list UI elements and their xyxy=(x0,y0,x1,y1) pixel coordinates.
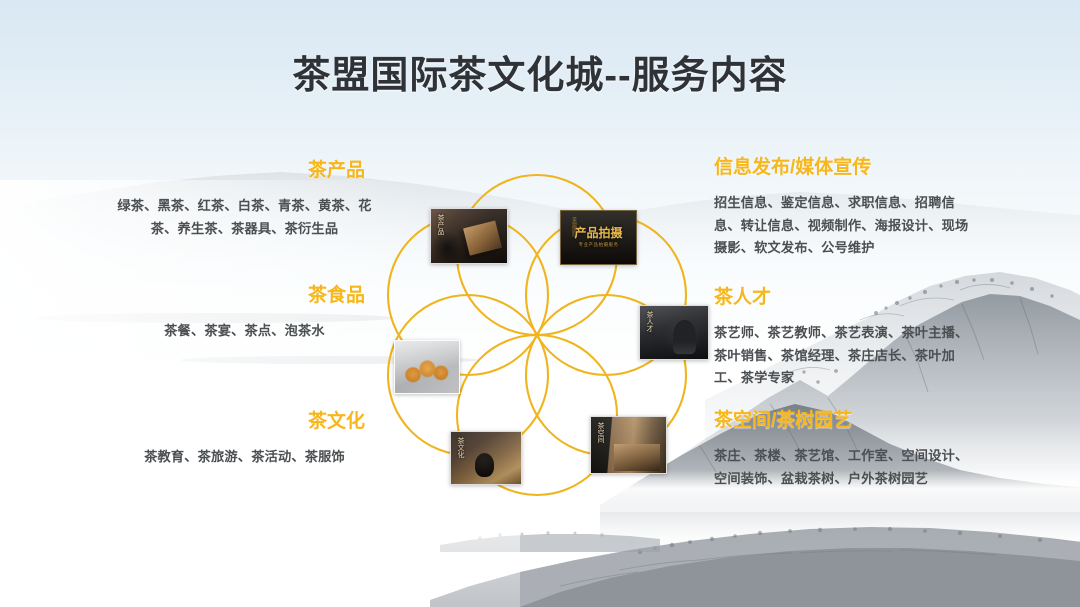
service-heading: 茶人才 xyxy=(714,287,979,310)
product-shoot-subtitle: 专业产品拍摄服务 xyxy=(579,243,619,248)
thumbnail-tea-culture[interactable]: 茶文化 xyxy=(450,431,522,485)
tea-food-photo xyxy=(395,341,459,393)
service-block-tea-culture: 茶文化 茶教育、茶旅游、茶活动、茶服饰 xyxy=(112,411,377,469)
product-shoot-title-group: 产品拍摄 专业产品拍摄服务 xyxy=(561,211,636,264)
service-block-info-media: 信息发布/媒体宣传 招生信息、鉴定信息、求职信息、招聘信息、转让信息、视频制作、… xyxy=(714,157,979,260)
service-heading: 茶食品 xyxy=(112,285,377,308)
thumbnail-product-shoot[interactable]: 茶盟国际 产品拍摄 专业产品拍摄服务 xyxy=(560,210,637,265)
thumbnail-label: 茶文化 xyxy=(455,437,464,458)
service-heading: 茶文化 xyxy=(112,411,377,434)
service-block-tea-products: 茶产品 绿茶、黑茶、红茶、白茶、青茶、黄茶、花茶、养生茶、茶器具、茶衍生品 xyxy=(112,160,377,240)
service-heading: 信息发布/媒体宣传 xyxy=(714,157,979,180)
service-body: 招生信息、鉴定信息、求职信息、招聘信息、转让信息、视频制作、海报设计、现场摄影、… xyxy=(714,192,979,260)
service-body: 绿茶、黑茶、红茶、白茶、青茶、黄茶、花茶、养生茶、茶器具、茶衍生品 xyxy=(112,195,377,240)
service-body: 茶餐、茶宴、茶点、泡茶水 xyxy=(112,320,377,343)
service-body: 茶教育、茶旅游、茶活动、茶服饰 xyxy=(112,446,377,469)
service-block-tea-space: 茶空间/茶树园艺 茶庄、茶楼、茶艺馆、工作室、空间设计、空间装饰、盆栽茶树、户外… xyxy=(714,410,979,490)
slide-canvas: 茶盟国际茶文化城--服务内容 茶产品 绿茶、黑茶、红茶、白茶、青茶、黄茶、花茶、… xyxy=(0,0,1080,607)
service-body: 茶庄、茶楼、茶艺馆、工作室、空间设计、空间装饰、盆栽茶树、户外茶树园艺 xyxy=(714,445,979,490)
service-heading: 茶产品 xyxy=(112,160,377,183)
thumbnail-tea-talent[interactable]: 茶人才 xyxy=(639,305,709,360)
service-body: 茶艺师、茶艺教师、茶艺表演、茶叶主播、茶叶销售、茶馆经理、茶庄店长、茶叶加工、茶… xyxy=(714,322,979,390)
thumbnail-tea-product[interactable]: 茶产品 xyxy=(430,208,508,264)
service-block-tea-talent: 茶人才 茶艺师、茶艺教师、茶艺表演、茶叶主播、茶叶销售、茶馆经理、茶庄店长、茶叶… xyxy=(714,287,979,390)
thumbnail-tea-space[interactable]: 茶空间 xyxy=(590,416,667,474)
product-shoot-title: 产品拍摄 xyxy=(574,227,622,240)
petal-circles-diagram: 茶产品 茶盟国际 产品拍摄 专业产品拍摄服务 茶人才 茶空间 茶文化 茶食品 xyxy=(362,160,712,510)
service-block-tea-food: 茶食品 茶餐、茶宴、茶点、泡茶水 xyxy=(112,285,377,343)
thumbnail-tea-food[interactable]: 茶食品 xyxy=(394,340,460,394)
slide-title-container: 茶盟国际茶文化城--服务内容 xyxy=(0,55,1080,99)
service-heading: 茶空间/茶树园艺 xyxy=(714,410,979,433)
thumbnail-label: 茶空间 xyxy=(595,422,604,443)
thumbnail-label: 茶产品 xyxy=(435,214,444,235)
page-title: 茶盟国际茶文化城--服务内容 xyxy=(292,55,787,99)
thumbnail-label: 茶人才 xyxy=(644,311,653,332)
